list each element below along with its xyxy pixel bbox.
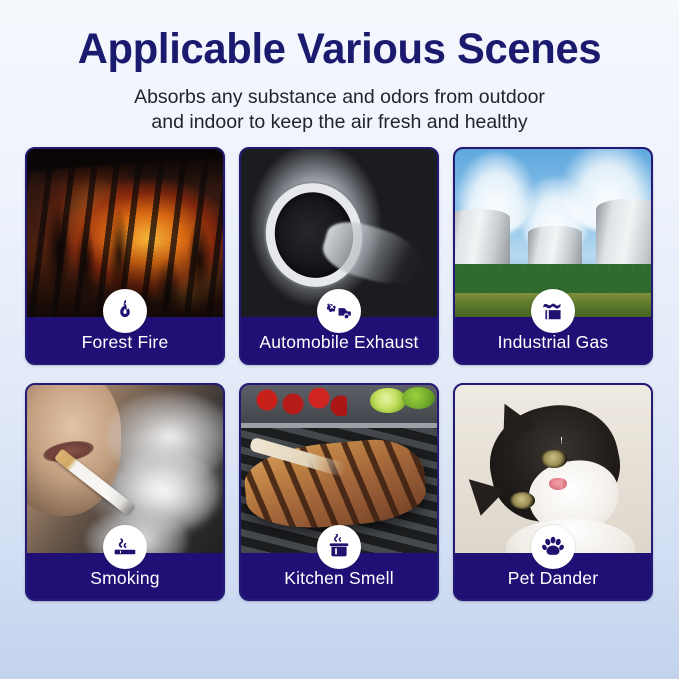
factory-icon	[531, 289, 575, 333]
page-subtitle: Absorbs any substance and odors from out…	[25, 85, 654, 135]
cigarette-icon	[103, 525, 147, 569]
page-subtitle-line-2: and indoor to keep the air fresh and hea…	[25, 110, 654, 135]
scenes-grid: Forest Fire Automobile Exhaust	[25, 147, 654, 601]
page-header: Applicable Various Scenes Absorbs any su…	[25, 0, 654, 135]
scene-card-forest-fire[interactable]: Forest Fire	[25, 147, 225, 365]
scene-card-pet-dander[interactable]: Pet Dander	[453, 383, 653, 601]
flame-icon	[103, 289, 147, 333]
page-title: Applicable Various Scenes	[34, 24, 644, 74]
scene-card-kitchen-smell[interactable]: Kitchen Smell	[239, 383, 439, 601]
scene-card-industrial-gas[interactable]: Industrial Gas	[453, 147, 653, 365]
page-subtitle-line-1: Absorbs any substance and odors from out…	[25, 85, 654, 110]
paw-print-icon	[531, 525, 575, 569]
scene-card-automobile-exhaust[interactable]: Automobile Exhaust	[239, 147, 439, 365]
scene-card-smoking[interactable]: Smoking	[25, 383, 225, 601]
car-smoke-icon	[317, 289, 361, 333]
cooking-pot-icon	[317, 525, 361, 569]
applicable-scenes-page: Applicable Various Scenes Absorbs any su…	[0, 0, 679, 679]
